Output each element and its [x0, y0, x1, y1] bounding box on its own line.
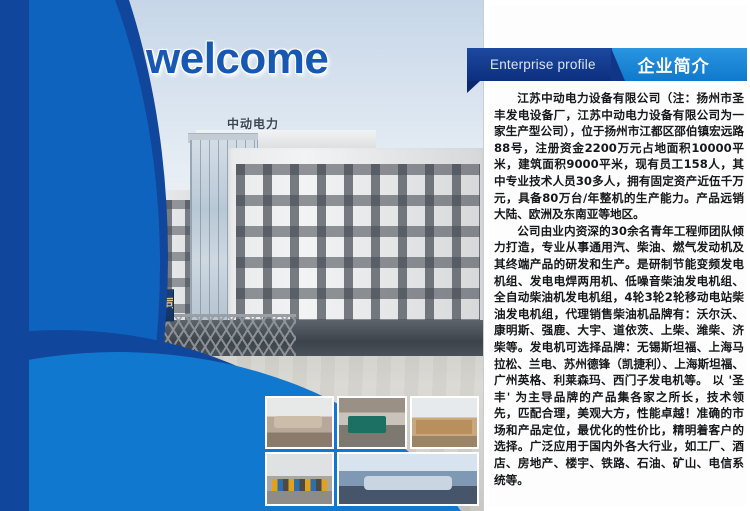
profile-paragraph-1: 江苏中动电力设备有限公司（注：扬州市圣丰发电设备厂，江苏中动电力设备有限公司为一…: [494, 90, 744, 223]
section-title-ribbon: Enterprise profile 企业简介: [467, 48, 747, 81]
main-building-windows: [236, 164, 480, 326]
slide-canvas: 中动电力 江苏中动电力设备有限公司 Jiangsu Zhongdong Powe…: [0, 0, 750, 511]
photo-collage: [265, 396, 479, 503]
ribbon-english-label: Enterprise profile: [467, 48, 612, 81]
reception-office-photo: [410, 396, 479, 449]
rooftop-company-sign: 中动电力: [213, 112, 293, 134]
left-navy-strip: [0, 0, 29, 511]
generator-workshop-photo: [337, 396, 406, 449]
profile-body-text: 江苏中动电力设备有限公司（注：扬州市圣丰发电设备厂，江苏中动电力设备有限公司为一…: [494, 90, 744, 488]
warehouse-generators-photo: [265, 452, 334, 506]
ribbon-fold-tail: [467, 81, 480, 93]
main-office-building: [228, 148, 485, 338]
ribbon-chinese-label: 企业简介: [612, 48, 747, 81]
office-meeting-photo: [265, 396, 334, 449]
conference-room-photo: [337, 452, 479, 506]
welcome-heading: welcome: [146, 34, 328, 84]
profile-paragraph-2: 公司由业内资深的30余名青年工程师团队倾力打造，专业从事通用汽、柴油、燃气发动机…: [494, 223, 744, 489]
